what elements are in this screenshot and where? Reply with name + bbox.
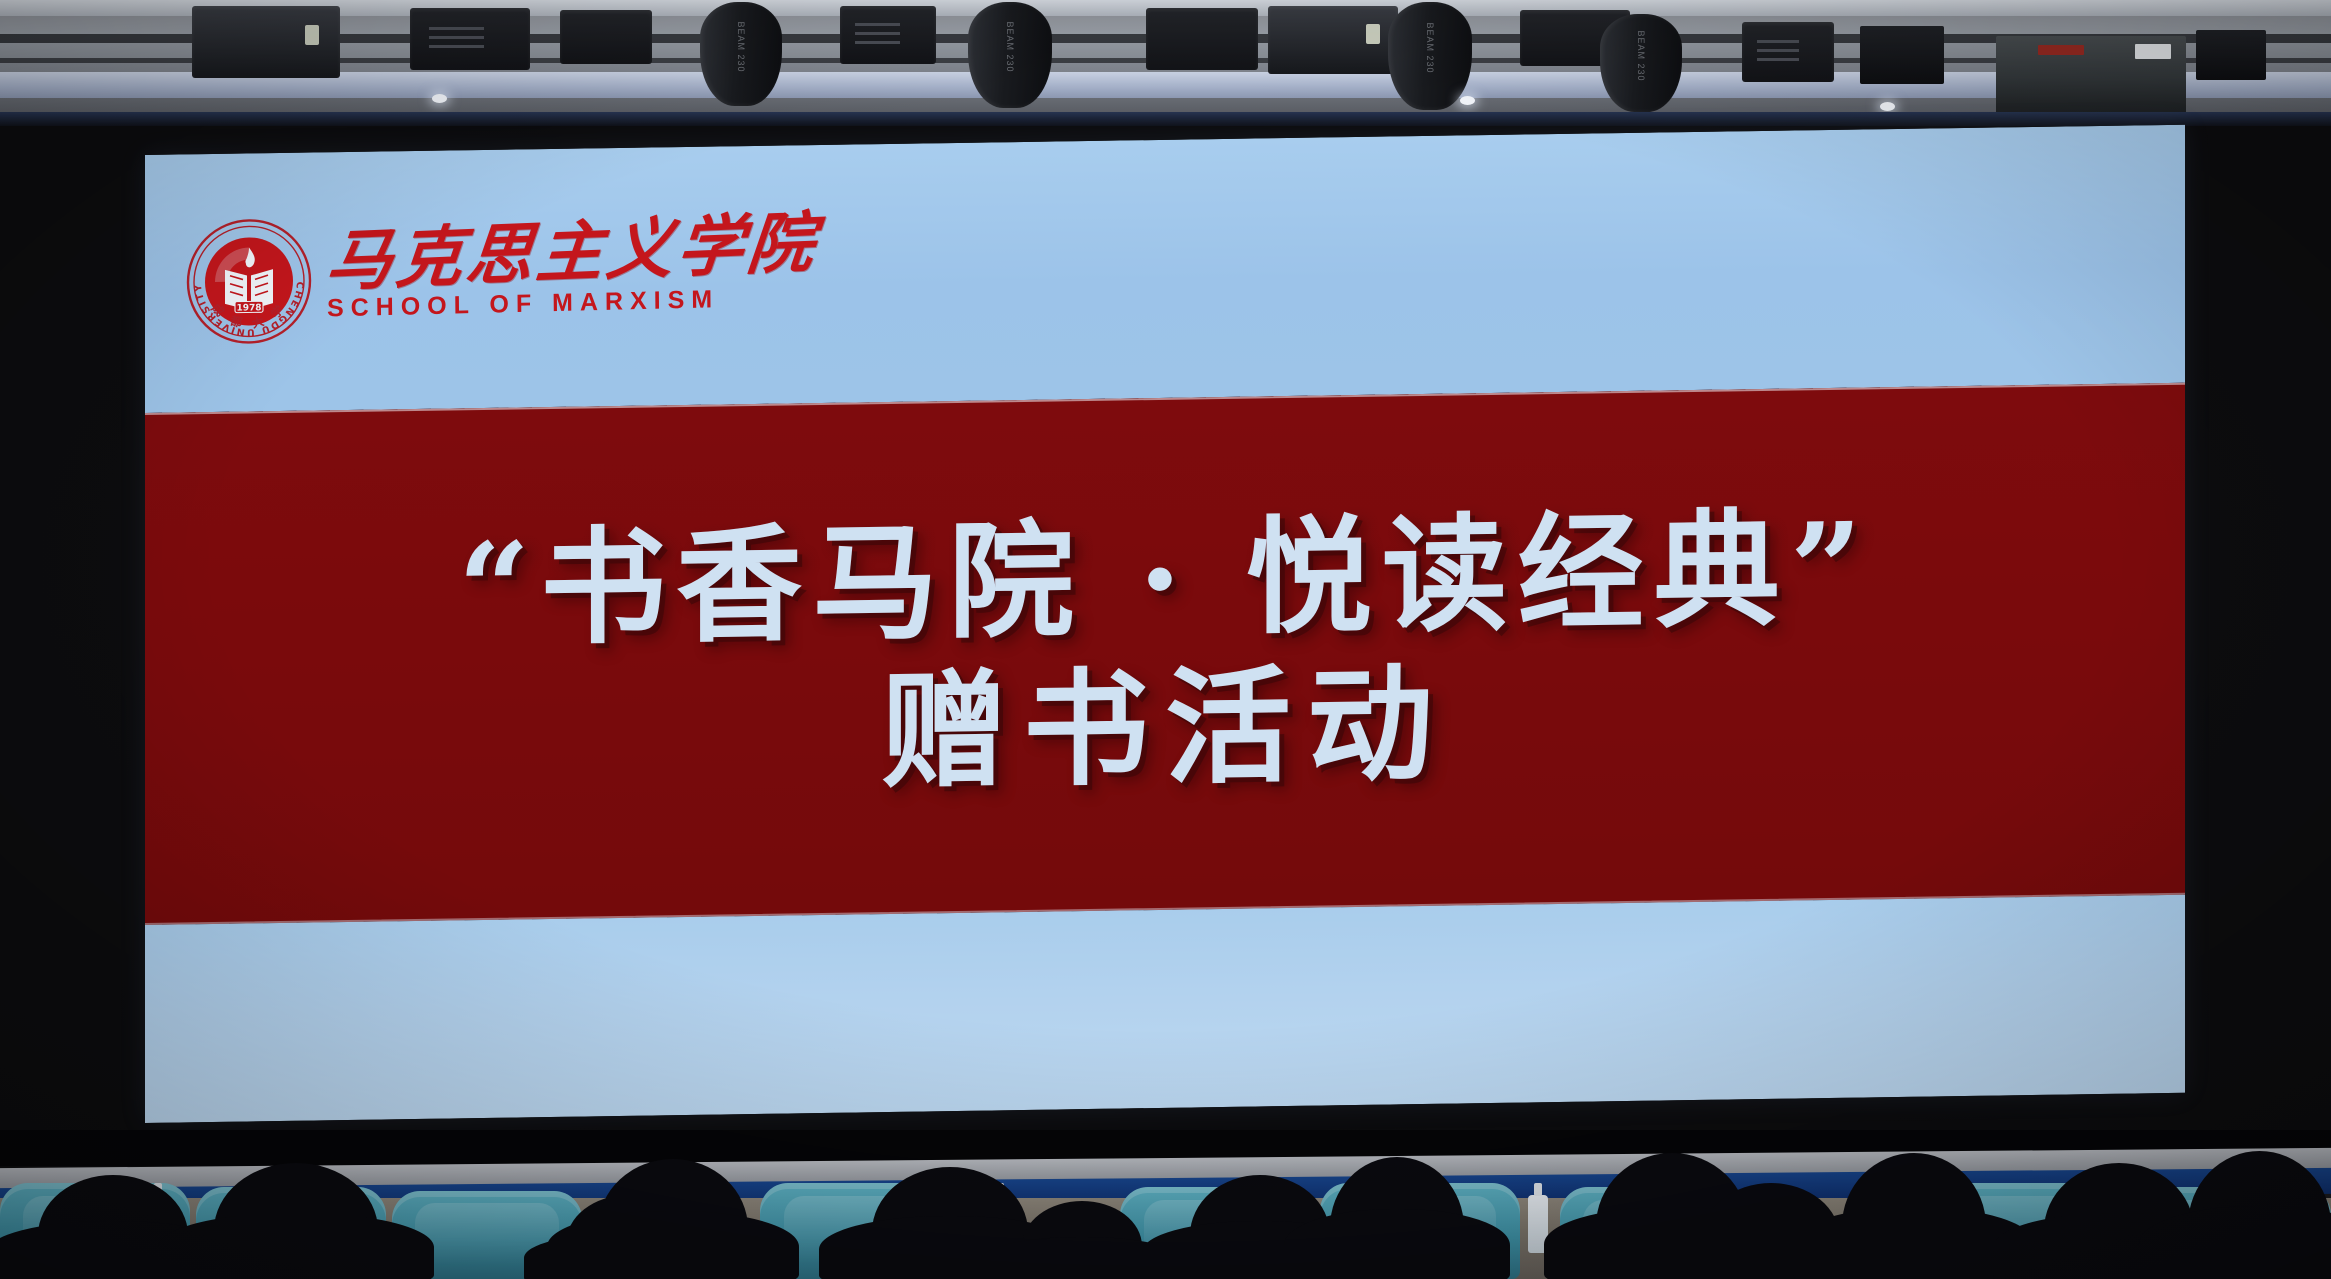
hanging-light-fixture: [1860, 26, 1944, 84]
fixture-led-indicator: [1366, 24, 1380, 44]
fixture-vent: [429, 27, 484, 30]
moving-head-light: BEAM 230: [1600, 14, 1682, 112]
audience-member: [214, 1163, 378, 1279]
stage-light-fixture: [1268, 6, 1398, 74]
stage-light-fixture: [1146, 8, 1258, 70]
stage-light-fixture: [192, 6, 340, 78]
fixture-brand-text: BEAM 230: [1636, 31, 1646, 82]
ceiling-light-line: [0, 72, 2331, 98]
slide-title-line-2: 赠书活动: [881, 659, 1449, 798]
audience-member: [1842, 1153, 1986, 1279]
hanging-light-fixture: [2196, 30, 2266, 80]
slide-title-line-1: “书香马院 · 悦读经典”: [458, 503, 1873, 655]
slide-title-group: “书香马院 · 悦读经典” 赠书活动: [145, 383, 2185, 925]
ceiling-downlight: [1460, 96, 1475, 105]
chengdu-university-emblem-icon: 1978 CHENGDU UNIVERSITY 成 都 大 学: [185, 217, 313, 347]
fixture-brand-text: BEAM 230: [736, 21, 746, 72]
audience-member: [1330, 1157, 1464, 1279]
audience-rows: [0, 1150, 2331, 1279]
institution-name-cn: 马克思主义学院: [323, 209, 821, 294]
stage-light-fixture: [560, 10, 652, 64]
stage-light-fixture: [410, 8, 530, 70]
fixture-vent: [855, 23, 899, 26]
led-wall-top-glow: [0, 112, 2331, 126]
moving-head-light: BEAM 230: [700, 2, 782, 106]
fixture-brand-text: BEAM 230: [1425, 23, 1435, 74]
audience-member: [2188, 1151, 2331, 1279]
moving-head-light: BEAM 230: [968, 2, 1052, 108]
fixture-brand-text: BEAM 230: [1005, 22, 1015, 73]
slide-footer-band: [145, 895, 2185, 1123]
auditorium-scene: BEAM 230 BEAM 230 BEAM 230 BEAM 230: [0, 0, 2331, 1279]
audience-member: [598, 1159, 748, 1279]
stage-light-fixture: [1742, 22, 1834, 82]
ceiling-downlight: [432, 94, 447, 103]
projector-panel: [2135, 44, 2171, 59]
fixture-vent: [1757, 40, 1799, 43]
moving-head-light: BEAM 230: [1388, 2, 1472, 110]
fixture-led-indicator: [305, 25, 319, 45]
institution-logo-lockup: 1978 CHENGDU UNIVERSITY 成 都 大 学 马克思主义学院: [185, 209, 817, 346]
svg-text:1978: 1978: [236, 303, 261, 313]
ceiling: BEAM 230 BEAM 230 BEAM 230 BEAM 230: [0, 0, 2331, 118]
ceiling-downlight: [1880, 102, 1895, 111]
institution-wordmark: 马克思主义学院 SCHOOL OF MARXISM: [327, 209, 817, 321]
projector-indicator-strip: [2038, 45, 2084, 55]
presentation-slide: 1978 CHENGDU UNIVERSITY 成 都 大 学 马克思主义学院: [145, 125, 2185, 1123]
stage-light-fixture: [840, 6, 936, 64]
ceiling-projector: [1996, 36, 2186, 114]
